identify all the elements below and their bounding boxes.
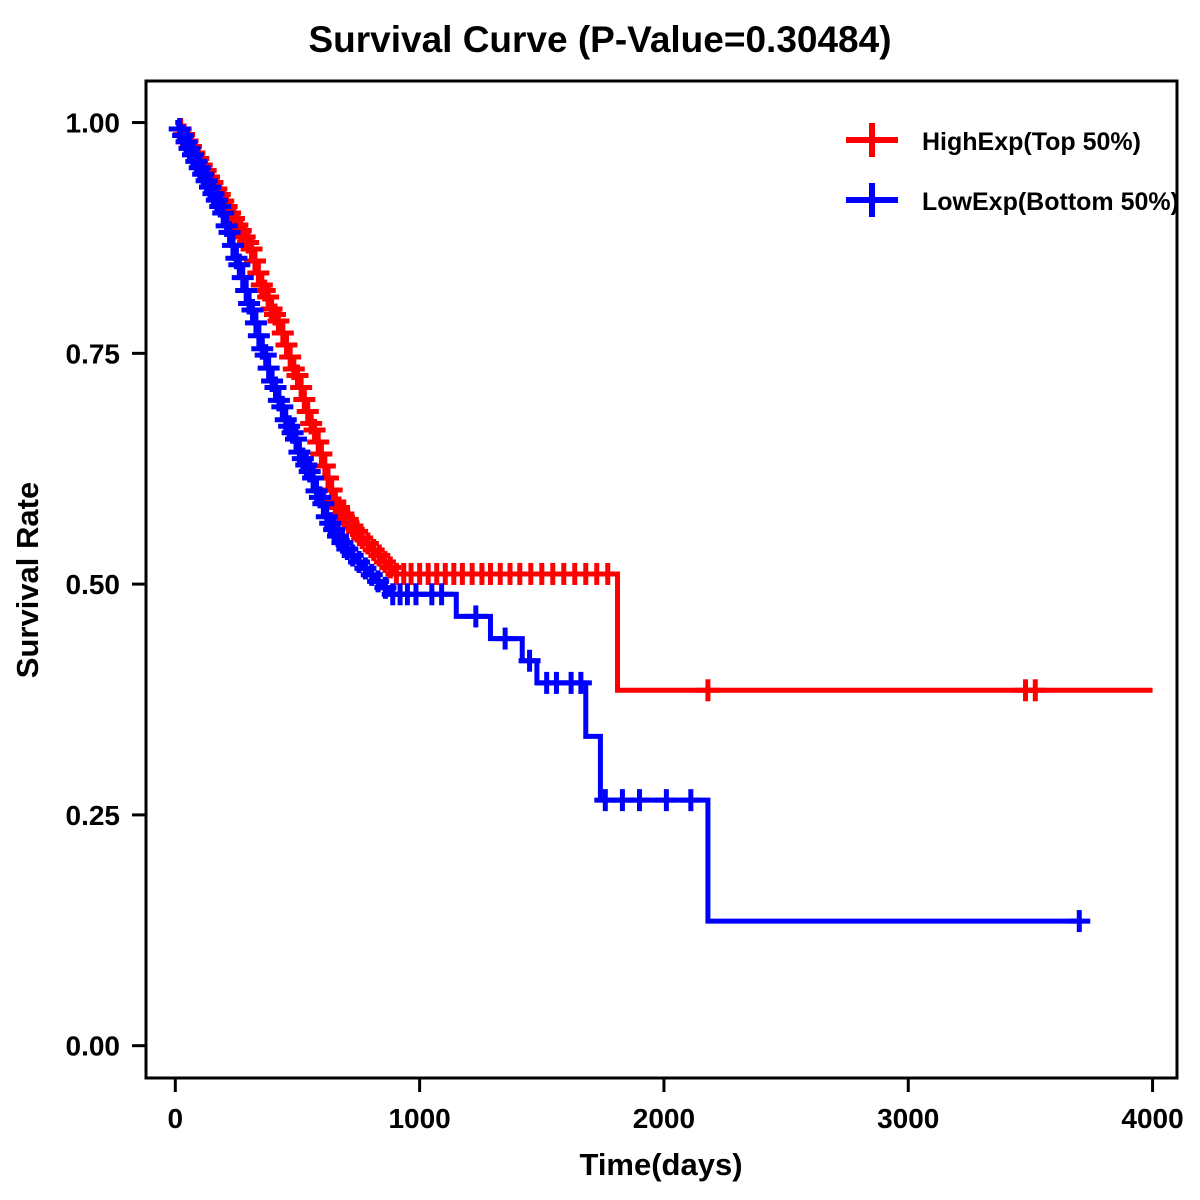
x-tick-label-0: 0 [168, 1103, 184, 1134]
chart-legend: HighExp(Top 50%)LowExp(Bottom 50%) [846, 123, 1179, 217]
y-tick-label-0.50: 0.50 [66, 569, 121, 600]
y-tick-label-0.00: 0.00 [66, 1031, 121, 1062]
plot-frame [146, 81, 1177, 1078]
survival-curve-figure: Survival Curve (P-Value=0.30484) 0100020… [0, 0, 1200, 1200]
survival-curve-plot: Survival Curve (P-Value=0.30484) 0100020… [0, 0, 1200, 1200]
censor-marks [170, 118, 1047, 701]
legend-label: HighExp(Top 50%) [922, 128, 1141, 156]
y-tick-label-0.25: 0.25 [66, 800, 121, 831]
x-tick-label-3000: 3000 [877, 1103, 939, 1134]
series-low-exp [169, 118, 1091, 932]
x-axis-ticks: 01000200030004000 [168, 1078, 1184, 1134]
y-axis-ticks: 0.000.250.500.751.00 [66, 108, 147, 1062]
x-tick-label-2000: 2000 [633, 1103, 695, 1134]
series-layer [169, 118, 1153, 932]
legend-entry-high-exp[interactable]: HighExp(Top 50%) [846, 123, 1141, 157]
chart-title: Survival Curve (P-Value=0.30484) [308, 19, 891, 60]
y-tick-label-1.00: 1.00 [66, 108, 121, 139]
x-axis-label: Time(days) [579, 1147, 742, 1182]
x-tick-label-1000: 1000 [388, 1103, 450, 1134]
y-tick-label-0.75: 0.75 [66, 338, 121, 369]
x-tick-label-4000: 4000 [1121, 1103, 1183, 1134]
legend-entry-low-exp[interactable]: LowExp(Bottom 50%) [846, 183, 1179, 217]
legend-label: LowExp(Bottom 50%) [922, 188, 1179, 216]
censor-marks [169, 118, 1091, 932]
y-axis-label: Survival Rate [10, 482, 45, 678]
